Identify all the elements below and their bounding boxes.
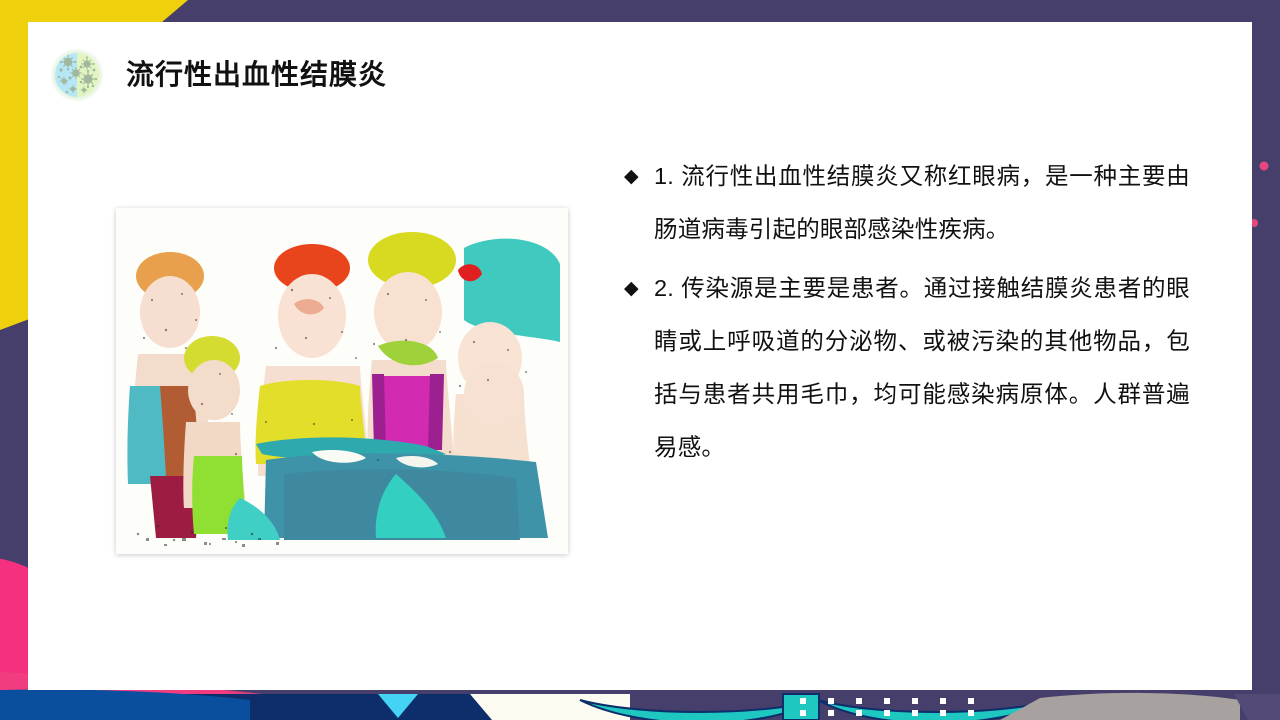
deco-right-dot-1 — [1260, 162, 1269, 171]
illu-face-6 — [464, 362, 524, 426]
illu-face-2 — [188, 360, 240, 420]
illu-shirt-magenta-edge2 — [428, 374, 444, 450]
virus-petri-dish-icon — [50, 48, 104, 102]
bullet-diamond-icon: ◆ — [624, 262, 654, 315]
bullet-text-1: 1. 流行性出血性结膜炎又称红眼病，是一种主要由肠道病毒引起的眼部感染性疾病。 — [654, 150, 1190, 256]
bullet-text-2: 2. 传染源是主要是患者。通过接触结膜炎患者的眼睛或上呼吸道的分泌物、或被污染的… — [654, 262, 1190, 474]
illustration-frame — [116, 208, 568, 554]
illu-shirt-magenta — [380, 376, 436, 448]
body-text-block: ◆ 1. 流行性出血性结膜炎又称红眼病，是一种主要由肠道病毒引起的眼部感染性疾病… — [624, 150, 1190, 480]
slide-card: 流行性出血性结膜炎 — [28, 22, 1252, 690]
group-of-children-posterized-photo — [116, 208, 568, 554]
deco-illu-teal-neck — [783, 694, 819, 720]
illu-shirt-magenta-edge — [372, 374, 386, 450]
illu-face-4 — [374, 272, 442, 352]
bullet-item-1: ◆ 1. 流行性出血性结膜炎又称红眼病，是一种主要由肠道病毒引起的眼部感染性疾病… — [624, 150, 1190, 256]
page-title: 流行性出血性结膜炎 — [126, 61, 387, 89]
bullet-diamond-icon: ◆ — [624, 150, 654, 203]
slide-header: 流行性出血性结膜炎 — [50, 48, 387, 102]
illu-face-3 — [278, 274, 346, 358]
illu-face-1 — [140, 276, 200, 348]
bullet-item-2: ◆ 2. 传染源是主要是患者。通过接触结膜炎患者的眼睛或上呼吸道的分泌物、或被污… — [624, 262, 1190, 474]
